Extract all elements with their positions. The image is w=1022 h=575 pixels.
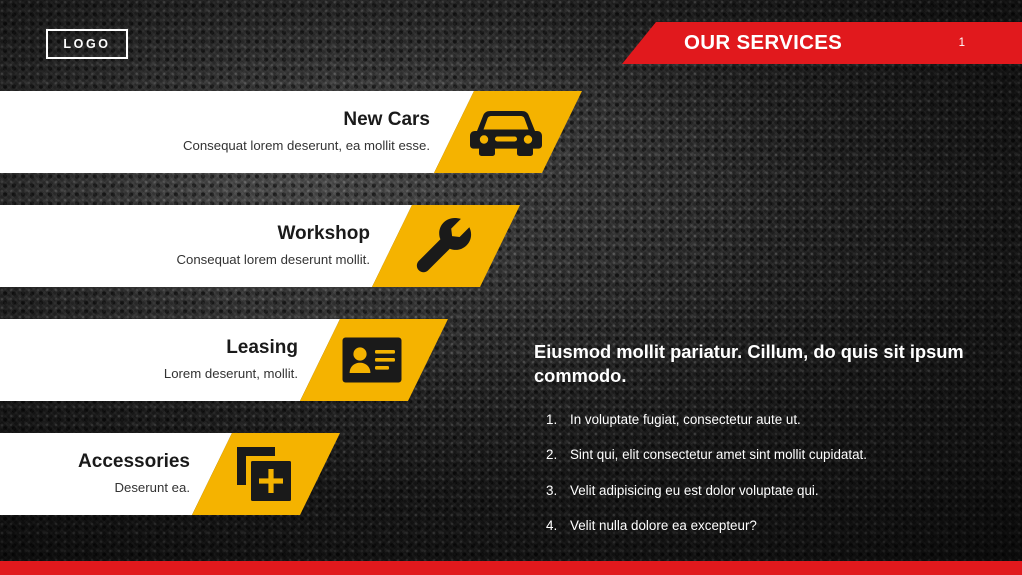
add-item-icon (210, 433, 318, 515)
service-description: Deserunt ea. (114, 480, 190, 496)
service-title: Leasing (226, 338, 298, 359)
footer-accent-bar (0, 561, 1022, 575)
wrench-icon (390, 205, 498, 287)
list-item: Velit adipisicing eu est dolor voluptate… (534, 482, 986, 499)
body-list: In voluptate fugiat, consectetur aute ut… (534, 411, 986, 535)
service-text: Accessories Deserunt ea. (0, 433, 206, 515)
service-text: Leasing Lorem deserunt, mollit. (20, 319, 314, 401)
service-text: New Cars Consequat lorem deserunt, ea mo… (60, 91, 446, 173)
page-title: OUR SERVICES (684, 31, 842, 55)
body-copy: Eiusmod mollit pariatur. Cillum, do quis… (534, 340, 986, 552)
slide-canvas: LOGO OUR SERVICES 1 New Cars Consequat l… (0, 0, 1022, 575)
service-text: Workshop Consequat lorem deserunt mollit… (40, 205, 386, 287)
service-title: Workshop (277, 224, 370, 245)
logo-text: LOGO (63, 38, 110, 51)
service-description: Consequat lorem deserunt mollit. (176, 252, 370, 268)
service-title: New Cars (343, 110, 430, 131)
service-title: Accessories (78, 452, 190, 473)
body-heading: Eiusmod mollit pariatur. Cillum, do quis… (534, 340, 986, 389)
list-item: Sint qui, elit consectetur amet sint mol… (534, 446, 986, 463)
car-icon (452, 91, 560, 173)
slide-number: 1 (959, 37, 965, 49)
list-item: Velit nulla dolore ea excepteur? (534, 517, 986, 534)
list-item: In voluptate fugiat, consectetur aute ut… (534, 411, 986, 428)
id-card-icon (318, 319, 426, 401)
service-description: Lorem deserunt, mollit. (164, 366, 298, 382)
header-banner: OUR SERVICES 1 (622, 22, 1022, 64)
logo: LOGO (46, 29, 128, 59)
service-description: Consequat lorem deserunt, ea mollit esse… (183, 138, 430, 154)
